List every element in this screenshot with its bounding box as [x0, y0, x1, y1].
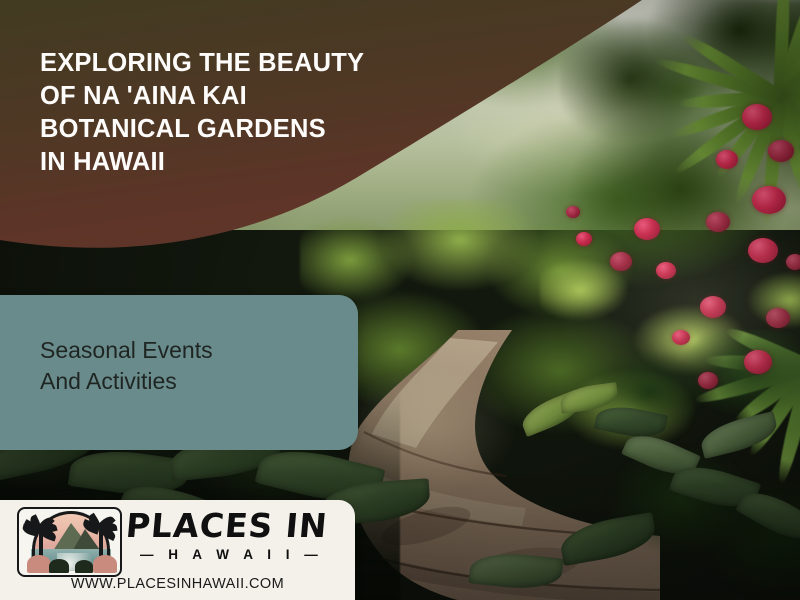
- logo-lockup: PLACES IN — H A W A I I —: [0, 504, 355, 574]
- logo-plate: PLACES IN — H A W A I I — WWW.PLACESINHA…: [0, 500, 355, 600]
- logo-wordmark: PLACES IN — H A W A I I —: [126, 504, 351, 576]
- title-line: BOTANICAL GARDENS: [40, 113, 390, 146]
- right-foreground-bush: [600, 330, 800, 600]
- subtitle-line: Seasonal Events: [40, 335, 330, 366]
- website-url: WWW.PLACESINHAWAII.COM: [0, 576, 355, 592]
- subtitle-line: And Activities: [40, 366, 330, 397]
- hawaii-island-scene-icon: [17, 507, 122, 577]
- logo-sub-text: — H A W A I I —: [140, 547, 323, 562]
- title-line: EXPLORING THE BEAUTY: [40, 47, 390, 80]
- page-title: EXPLORING THE BEAUTY OF NA 'AINA KAI BOT…: [40, 47, 390, 179]
- subtitle: Seasonal Events And Activities: [40, 335, 330, 397]
- flower-cluster: [744, 350, 772, 374]
- flower-cluster: [698, 372, 718, 389]
- title-line: OF NA 'AINA KAI: [40, 80, 390, 113]
- featured-image-card: EXPLORING THE BEAUTY OF NA 'AINA KAI BOT…: [0, 0, 800, 600]
- title-line: IN HAWAII: [40, 146, 390, 179]
- flower-cluster: [672, 330, 690, 345]
- flower-cluster: [766, 308, 790, 328]
- logo-main-text: PLACES IN: [124, 506, 329, 545]
- subtitle-panel: Seasonal Events And Activities: [0, 295, 358, 450]
